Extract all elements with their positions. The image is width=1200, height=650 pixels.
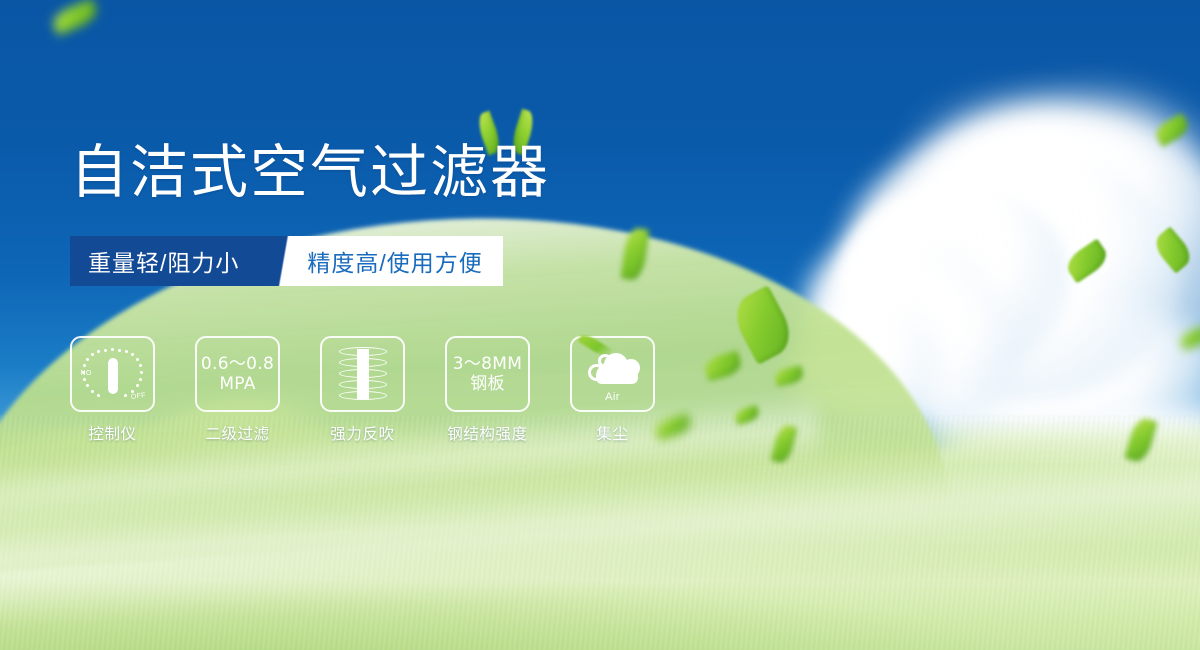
gauge-icon: NO OFF bbox=[82, 345, 144, 403]
steel-icon-line2: 钢板 bbox=[470, 374, 505, 394]
feature-icon-box: 0.6〜0.8 MPA bbox=[195, 336, 280, 412]
gauge-needle bbox=[108, 358, 118, 394]
badge-right-text: 精度高/使用方便 bbox=[303, 236, 502, 286]
air-label: Air bbox=[582, 391, 644, 403]
cloud-body bbox=[596, 362, 638, 384]
coil-filter-icon bbox=[336, 345, 390, 403]
feature-label: 集尘 bbox=[570, 422, 655, 444]
gauge-label-off: OFF bbox=[130, 392, 146, 401]
air-cloud-icon: Air bbox=[582, 348, 644, 400]
feature-icon-box: Air bbox=[570, 336, 655, 412]
feature-icon-box bbox=[320, 336, 405, 412]
feature-icon-box: NO OFF bbox=[70, 336, 155, 412]
feature-item-control-panel[interactable]: NO OFF 控制仪 bbox=[70, 336, 155, 444]
gauge-label-no: NO bbox=[81, 370, 92, 377]
feature-icon-box: 3〜8MM 钢板 bbox=[445, 336, 530, 412]
feature-item-back-blow[interactable]: 强力反吹 bbox=[320, 336, 405, 444]
feature-label: 控制仪 bbox=[70, 422, 155, 444]
badge-left-text: 重量轻/阻力小 bbox=[70, 236, 269, 286]
feature-icon-row: NO OFF 控制仪 0.6〜0.8 MPA 二级过滤 bbox=[70, 336, 655, 444]
feature-item-steel-strength[interactable]: 3〜8MM 钢板 钢结构强度 bbox=[445, 336, 530, 444]
feature-label: 强力反吹 bbox=[320, 422, 405, 444]
pressure-icon-line1: 0.6〜0.8 bbox=[201, 354, 274, 374]
badge-divider bbox=[269, 236, 303, 286]
pressure-icon-line2: MPA bbox=[219, 374, 255, 394]
feature-item-secondary-filter[interactable]: 0.6〜0.8 MPA 二级过滤 bbox=[195, 336, 280, 444]
feature-label: 钢结构强度 bbox=[445, 422, 530, 444]
steel-icon-line1: 3〜8MM bbox=[453, 354, 522, 374]
feature-label: 二级过滤 bbox=[195, 422, 280, 444]
feature-item-dust-collection[interactable]: Air 集尘 bbox=[570, 336, 655, 444]
subtitle-badge: 重量轻/阻力小 精度高/使用方便 bbox=[70, 236, 503, 286]
page-title: 自洁式空气过滤器 bbox=[70, 143, 550, 201]
hero-banner: 自洁式空气过滤器 重量轻/阻力小 精度高/使用方便 bbox=[0, 0, 1200, 650]
